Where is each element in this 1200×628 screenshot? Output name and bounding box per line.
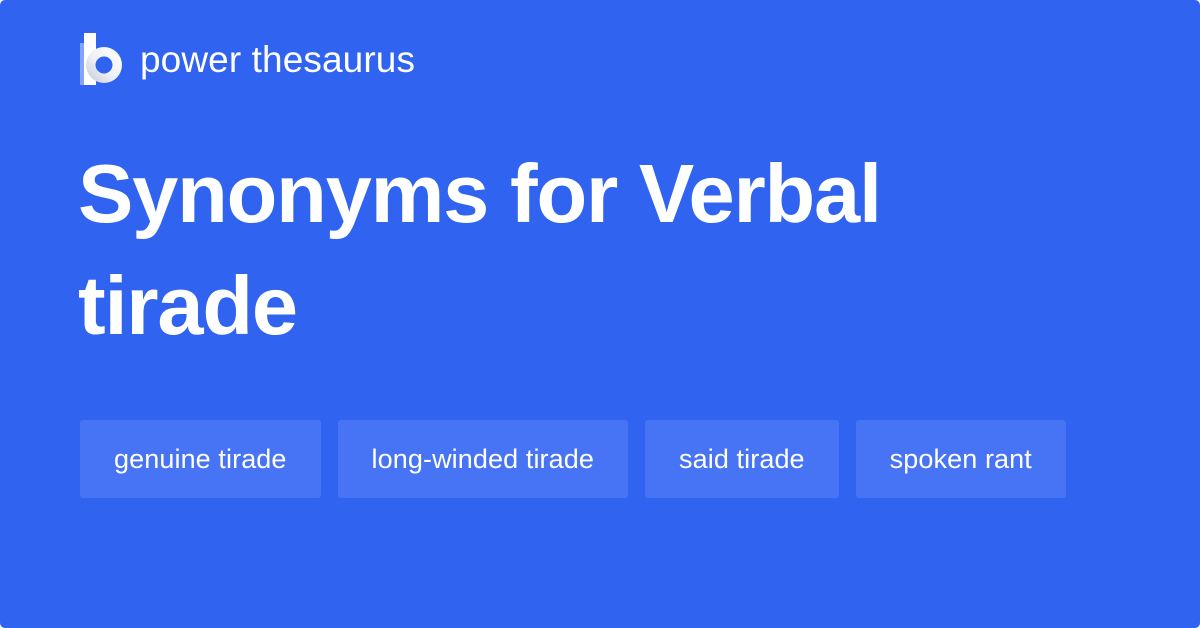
page-title-line-1: Synonyms for Verbal (78, 147, 881, 240)
share-card: power thesaurus Synonyms for Verbal tira… (0, 0, 1200, 628)
synonym-chip[interactable]: long-winded tirade (338, 420, 628, 498)
power-thesaurus-b-logo-icon (80, 33, 122, 85)
synonym-chip[interactable]: genuine tirade (80, 420, 321, 498)
page-title: Synonyms for Verbal tirade (78, 138, 1078, 362)
synonym-chip[interactable]: said tirade (645, 420, 839, 498)
page-title-line-2: tirade (78, 259, 297, 352)
synonym-chip[interactable]: spoken rant (856, 420, 1066, 498)
synonym-list: genuine tirade long-winded tirade said t… (80, 420, 1080, 498)
brand-header[interactable]: power thesaurus (80, 30, 415, 88)
brand-name: power thesaurus (140, 41, 415, 78)
